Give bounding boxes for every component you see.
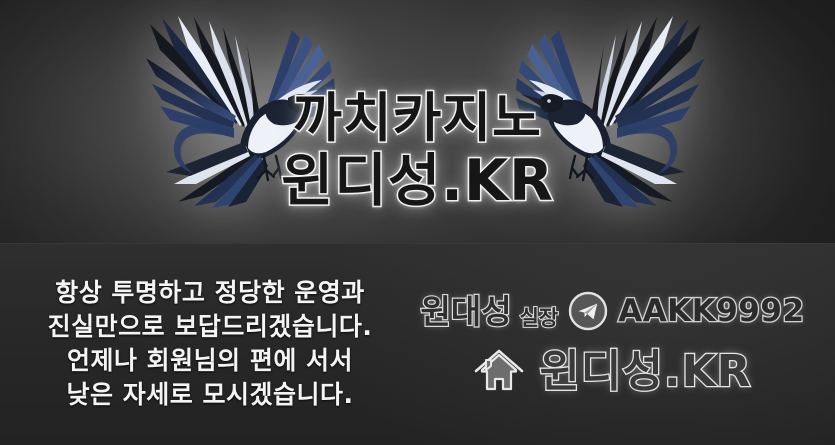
slogan-line-4: 낮은 자세로 모시겠습니다. bbox=[16, 378, 404, 412]
slogan-line-1: 항상 투명하고 정당한 운영과 bbox=[16, 276, 404, 310]
casino-promo-banner: 까치카지노 윈디성.KR 항상 투명하고 정당한 운영과 진실만으로 보답드리겠… bbox=[0, 0, 835, 445]
home-icon bbox=[473, 347, 525, 397]
brand-title-line2: 윈디성.KR bbox=[0, 153, 835, 210]
bottom-section: 항상 투명하고 정당한 운영과 진실만으로 보답드리겠습니다. 언제나 회원님의… bbox=[0, 243, 835, 445]
telegram-contact-row[interactable]: 원대성 실장 AAKK9992 bbox=[420, 291, 804, 331]
manager-role: 실장 bbox=[520, 308, 559, 331]
brand-title: 까치카지노 윈디성.KR bbox=[0, 92, 835, 210]
telegram-icon[interactable] bbox=[568, 291, 608, 331]
domain-name[interactable]: 윈디성.KR bbox=[539, 350, 751, 394]
hero-section: 까치카지노 윈디성.KR bbox=[0, 0, 835, 243]
slogan-line-3: 언제나 회원님의 편에 서서 bbox=[16, 344, 404, 378]
slogan-line-2: 진실만으로 보답드리겠습니다. bbox=[16, 310, 404, 344]
contact-block: 원대성 실장 AAKK9992 윈디성.KR bbox=[404, 291, 835, 397]
manager-name: 원대성 bbox=[420, 295, 511, 328]
brand-title-line1: 까치카지노 bbox=[0, 92, 835, 145]
domain-row[interactable]: 윈디성.KR bbox=[473, 347, 751, 397]
slogan-block: 항상 투명하고 정당한 운영과 진실만으로 보답드리겠습니다. 언제나 회원님의… bbox=[0, 276, 404, 412]
telegram-id[interactable]: AAKK9992 bbox=[618, 296, 804, 327]
